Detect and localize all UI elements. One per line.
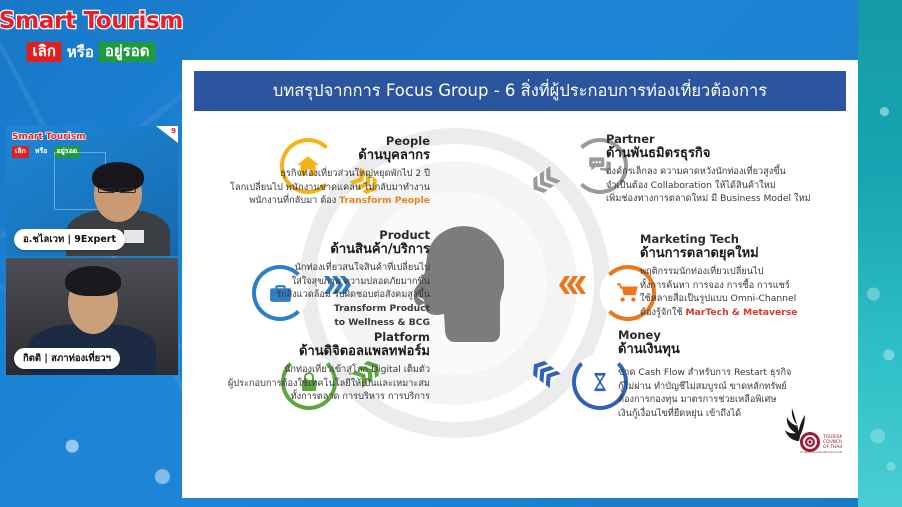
speaker-1-name-tag: อ.ชไลเวท | 9Expert	[14, 229, 125, 250]
video-overlay-chip-stop: เลิก	[12, 146, 29, 158]
block-product-line-1: นักท่องเที่ยวสนใจสินค้าที่เปลี่ยนไป	[190, 261, 430, 275]
presentation-slide: บทสรุปจากการ Focus Group - 6 สิ่งที่ผู้ป…	[182, 60, 858, 498]
block-platform-title-en: Platform	[186, 330, 430, 344]
speaker-1-glasses	[98, 188, 115, 193]
block-partner-title-th: ด้านพันธมิตรธุรกิจ	[606, 146, 856, 163]
block-product-highlight-1: Transform Product	[190, 302, 430, 316]
block-partner-line-3: เพิ่มช่องทางการตลาดใหม่ มี Business Mode…	[606, 192, 856, 206]
speaker-1-glasses-right	[119, 188, 136, 193]
block-marketing-tech-title-th: ด้านการตลาดยุคใหม่	[640, 246, 858, 263]
slide-title-bar: บทสรุปจากการ Focus Group - 6 สิ่งที่ผู้ป…	[194, 71, 846, 111]
brand-title: Smart Tourism	[0, 8, 183, 34]
block-product-line-3: รักสิ่งแวดล้อม รับผิดชอบต่อสังคมสูงขึ้น	[190, 288, 430, 302]
block-money-line-2: กู้ไม่ผ่าน ทำบัญชีไม่สมบูรณ์ ขาดหลักทรัพ…	[618, 380, 854, 394]
block-marketing-tech-line-4-text: ต้องรู้จักใช้	[640, 307, 686, 318]
block-partner: Partner ด้านพันธมิตรธุรกิจ องค์กรเล็กลง …	[606, 132, 856, 206]
block-people-line-3-text: พนักงานที่กลับมา ต้อง	[249, 195, 339, 206]
block-money-line-1: ขาด Cash Flow สำหรับการ Restart ธุรกิจ	[618, 366, 854, 380]
brand-subtitle: เลิก หรือ อยู่รอด	[27, 40, 156, 64]
block-marketing-tech-highlight: MarTech & Metaverse	[686, 307, 798, 318]
block-marketing-tech: Marketing Tech ด้านการตลาดยุคใหม่ พฤติกร…	[640, 232, 858, 320]
screen: Smart Tourism เลิก หรือ อยู่รอด Smart To…	[0, 0, 902, 507]
block-marketing-tech-title-en: Marketing Tech	[640, 232, 858, 246]
block-people-highlight: Transform People	[339, 195, 430, 206]
block-product-line-2: ใส่ใจสุขภาพ ความปลอดภัยมากขึ้น	[190, 275, 430, 289]
video-overlay-brand-title: Smart Tourism	[12, 132, 86, 142]
brand-chip-survive: อยู่รอด	[99, 42, 156, 63]
block-people-line-2: โลกเปลี่ยนไป พนักงานขาดแคลน ไม่กลับมาทำง…	[200, 181, 430, 195]
block-people-title-th: ด้านบุคลากร	[200, 148, 430, 165]
block-platform: Platform ด้านดิจิตอลแพลทฟอร์ม นักท่องเที…	[186, 330, 430, 404]
block-product: Product ด้านสินค้า/บริการ นักท่องเที่ยวส…	[190, 228, 430, 329]
block-marketing-tech-line-3: ใช้หลายสื่อเป็นรูปแบบ Omni-Channel	[640, 292, 858, 306]
block-product-title-th: ด้านสินค้า/บริการ	[190, 242, 430, 259]
block-marketing-tech-line-2: ทั้งการค้นหา การจอง การซื้อ การแชร์	[640, 279, 858, 293]
block-partner-title-en: Partner	[606, 132, 856, 146]
block-platform-line-2: ผู้ประกอบการต้องใช้เทคโนโลยีให้เป็นและเห…	[186, 377, 430, 391]
block-platform-line-1: นักท่องเที่ยวเข้าสู่โลก Digital เต็มตัว	[186, 363, 430, 377]
background-right-strip	[858, 0, 902, 507]
block-people-line-1: ธุรกิจท่องเที่ยวส่วนใหญ่หยุดพักไป 2 ปี	[200, 167, 430, 181]
block-product-highlight-2: to Wellness & BCG	[190, 316, 430, 330]
slide-title: บทสรุปจากการ Focus Group - 6 สิ่งที่ผู้ป…	[273, 78, 767, 104]
logo-line-4: สภาอุตสาหกรรมท่องเที่ยวแห่งประเทศไทย	[800, 450, 842, 454]
block-marketing-tech-line-4: ต้องรู้จักใช้ MarTech & Metaverse	[640, 306, 858, 320]
speaker-1-shirt-tag	[124, 230, 144, 243]
block-people-title-en: People	[200, 134, 430, 148]
tourism-council-of-thailand-logo: TOURISM COUNCIL OF THAILAND สภาอุตสาหกรร…	[778, 406, 842, 454]
block-people: People ด้านบุคลากร ธุรกิจท่องเที่ยวส่วนใ…	[200, 134, 430, 208]
brand-chip-stop: เลิก	[27, 42, 62, 63]
block-platform-line-3: ทั้งการตลาด การบริหาร การบริการ	[186, 390, 430, 404]
brand-word-or: หรือ	[67, 40, 94, 64]
speaker-2-name-tag: กิตติ | สภาท่องเที่ยวฯ	[14, 348, 120, 369]
block-partner-line-2: จำเป็นต้อง Collaboration ให้ได้สินค้าใหม…	[606, 179, 856, 193]
video-overlay-word-or: หรือ	[32, 146, 51, 158]
block-platform-title-th: ด้านดิจิตอลแพลทฟอร์ม	[186, 344, 430, 361]
video-corner-badge-label: 9	[171, 127, 176, 135]
speaker-2-hair	[65, 266, 121, 296]
logo-line-3: OF THAILAND	[823, 444, 842, 450]
video-tile-speaker-1[interactable]: Smart Tourism เลิก หรือ อยู่รอด 9 อ.ชไลเ…	[6, 126, 178, 256]
block-money-title-en: Money	[618, 328, 854, 342]
brand-header: Smart Tourism เลิก หรือ อยู่รอด	[0, 0, 182, 78]
block-marketing-tech-line-1: พฤติกรรมนักท่องเที่ยวเปลี่ยนไป	[640, 265, 858, 279]
block-partner-line-1: องค์กรเล็กลง ความคาดหวังนักท่องเที่ยวสูง…	[606, 165, 856, 179]
video-tile-speaker-2[interactable]: กิตติ | สภาท่องเที่ยวฯ	[6, 258, 178, 375]
chevron-marketing-tech-icon	[558, 272, 588, 298]
block-people-line-3: พนักงานที่กลับมา ต้อง Transform People	[200, 194, 430, 208]
block-money-title-th: ด้านเงินทุน	[618, 342, 854, 359]
block-product-title-en: Product	[190, 228, 430, 242]
